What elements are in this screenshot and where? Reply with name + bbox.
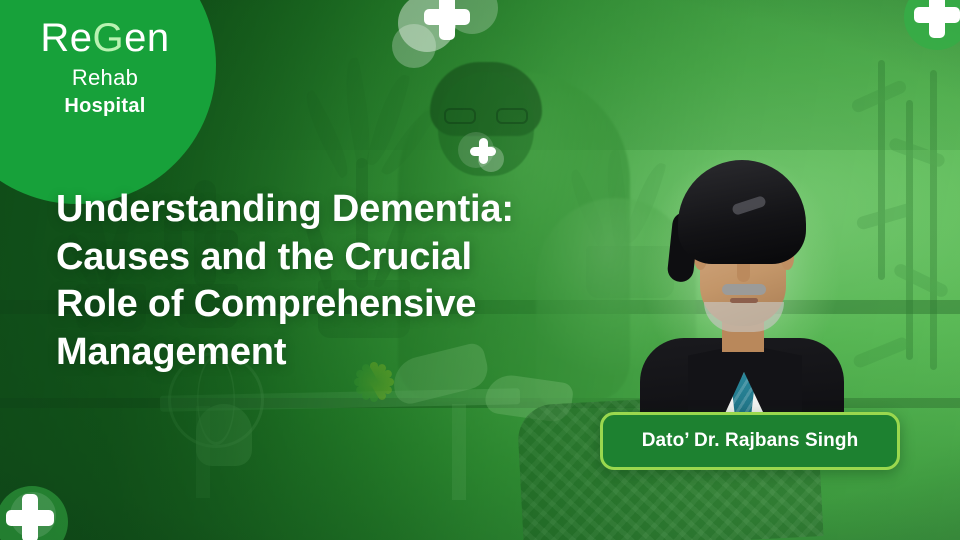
logo-subtitle-hospital: Hospital: [0, 96, 210, 116]
logo-text-re: Re: [40, 16, 92, 60]
logo-wordmark: ReGen: [0, 18, 210, 58]
portrait-turban: [678, 160, 806, 264]
speaker-name-label: Dato’ Dr. Rajbans Singh: [642, 430, 859, 452]
logo-subtitle-rehab: Rehab: [0, 67, 210, 89]
logo-text-en: en: [124, 16, 170, 60]
portrait-beard: [704, 302, 784, 332]
headline-line-1: Understanding Dementia:: [56, 186, 616, 234]
plus-icon: [470, 138, 496, 164]
logo-text-g: G: [93, 16, 125, 60]
headline-line-3: Role of Comprehensive: [56, 281, 616, 329]
plus-icon: [424, 0, 470, 40]
promo-banner: ReGen Rehab Hospital Understanding Demen…: [0, 0, 960, 540]
headline-line-4: Management: [56, 329, 616, 377]
portrait-moustache: [722, 284, 766, 295]
plus-icon: [914, 0, 960, 38]
plus-icon: [6, 494, 54, 540]
brand-logo[interactable]: ReGen Rehab Hospital: [0, 18, 210, 116]
page-title: Understanding Dementia: Causes and the C…: [56, 186, 616, 376]
speaker-name-badge[interactable]: Dato’ Dr. Rajbans Singh: [600, 412, 900, 470]
headline-line-2: Causes and the Crucial: [56, 234, 616, 282]
portrait-mouth: [730, 298, 758, 303]
